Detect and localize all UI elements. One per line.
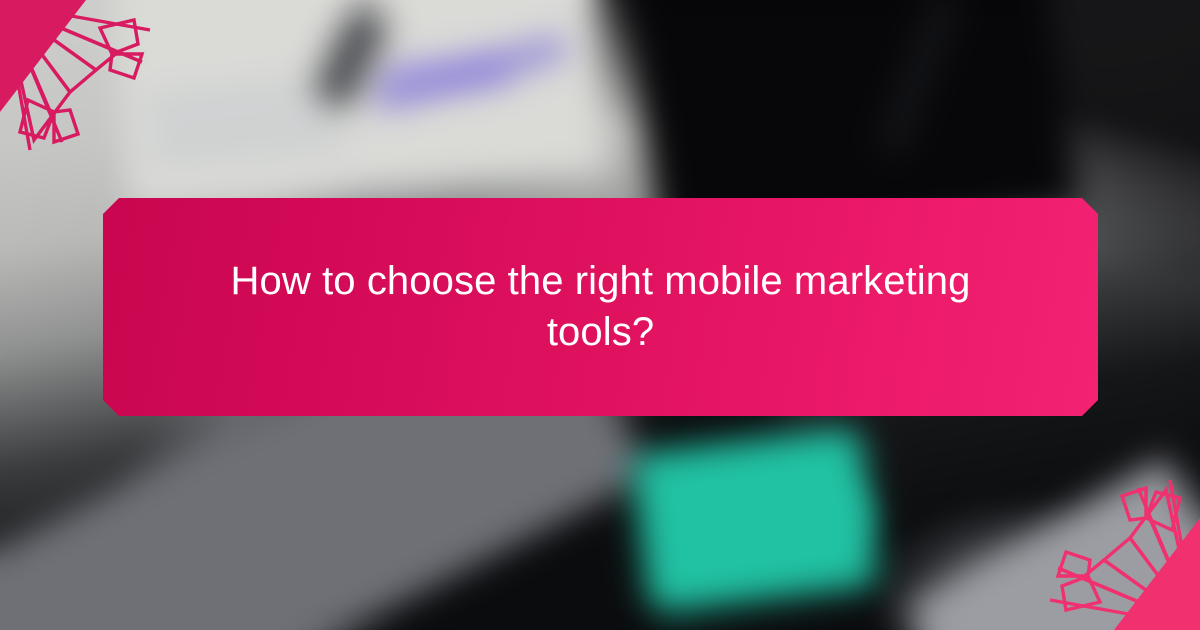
background-document-lines [147,82,344,184]
header-card: How to choose the right mobile marketing… [0,0,1200,630]
title-banner: How to choose the right mobile marketing… [103,198,1098,416]
background-smartphone [631,427,879,614]
page-title: How to choose the right mobile marketing… [221,256,981,358]
